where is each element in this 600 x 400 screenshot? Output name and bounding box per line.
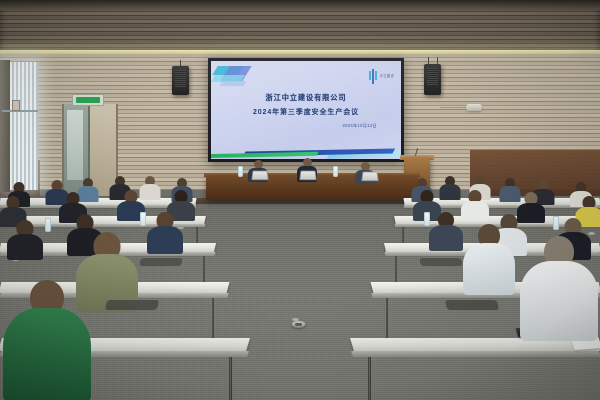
water-bottle-right-1 <box>424 212 430 226</box>
desk-right-row1-leg <box>368 357 371 400</box>
desk-right-row2-leg <box>386 298 388 338</box>
company-logo: 中立建设 <box>369 69 394 84</box>
attendee-l-green-body <box>3 308 91 400</box>
slide-accent-shape-4 <box>219 81 246 86</box>
wall-mounted-device <box>466 104 482 111</box>
water-bottle-right-2 <box>553 216 559 230</box>
projection-screen: 中立建设 浙江中立建设有限公司 2024年第三季度安全生产会议 2024年10月… <box>211 61 401 159</box>
exit-sign-green-panel <box>76 97 100 103</box>
slide-date: 2024年10月12日 <box>343 123 378 129</box>
attendee-r-r3c-body <box>461 201 489 221</box>
attendee-r-b5 <box>440 176 460 200</box>
desk-right-row1-edge <box>351 351 600 357</box>
head-table-bottle-2 <box>333 166 338 177</box>
ceiling-shadow <box>0 0 600 10</box>
attendee-r-b5-body <box>440 184 461 200</box>
speaker-bracket-right-a <box>428 57 429 64</box>
wall-speaker-left <box>172 66 189 95</box>
panelist-1 <box>248 160 268 400</box>
water-bottle-left-2 <box>45 218 51 232</box>
desk-left-row1-leg <box>229 357 232 400</box>
attendee-r-r3c <box>462 190 488 220</box>
attendee-r-white-body <box>520 261 598 341</box>
exit-sign-icon <box>72 94 104 106</box>
attendee-l-r2a-body <box>7 234 43 260</box>
projection-screen-frame: 中立建设 浙江中立建设有限公司 2024年第三季度安全生产会议 2024年10月… <box>208 58 404 162</box>
head-table-laptop-3 <box>361 172 378 182</box>
attendee-l-green <box>10 280 84 400</box>
chair-back-right-1 <box>445 300 499 310</box>
panelist-3 <box>355 162 375 400</box>
water-bottle-left-1 <box>140 212 146 226</box>
slide-bottom-swoosh <box>211 145 401 159</box>
attendee-l-khaki <box>78 232 136 308</box>
attendee-l-r2c-body <box>147 226 183 254</box>
logo-text: 中立建设 <box>380 74 394 78</box>
attendee-r-r2c <box>430 212 462 250</box>
chair-back-left-2 <box>139 258 183 266</box>
chair-back-right-2 <box>419 258 463 266</box>
logo-mark-icon <box>369 69 378 84</box>
wall-cable <box>440 107 466 108</box>
head-table-laptop-2 <box>299 171 316 181</box>
slide-meeting-title: 2024年第三季度安全生产会议 <box>211 107 401 117</box>
attendee-l-r2a <box>8 220 42 258</box>
attendee-r-white <box>528 236 590 336</box>
head-table-bottle-1 <box>238 166 243 177</box>
chair-back-left-1 <box>105 300 159 310</box>
attendee-l-r2c <box>148 212 182 252</box>
speaker-bracket-right-b <box>437 57 438 64</box>
attendee-r-lightblue <box>466 224 512 292</box>
door-glass <box>67 110 83 180</box>
hanging-speaker-right <box>424 64 441 95</box>
attendee-r-lightblue-body <box>463 243 515 295</box>
attendee-r-r2c-body <box>429 225 463 251</box>
attendee-r-b3 <box>500 178 520 202</box>
slide-company-name: 浙江中立建设有限公司 <box>211 93 401 103</box>
wall-switch[interactable] <box>12 100 20 111</box>
window-frame <box>0 60 10 192</box>
desk-left-row2-leg <box>212 298 214 338</box>
panelist-2 <box>297 158 317 400</box>
window-mullion <box>2 110 38 112</box>
conference-room-photo: 中立建设 浙江中立建设有限公司 2024年第三季度安全生产会议 2024年10月… <box>0 0 600 400</box>
head-table-laptop-1 <box>251 171 268 181</box>
